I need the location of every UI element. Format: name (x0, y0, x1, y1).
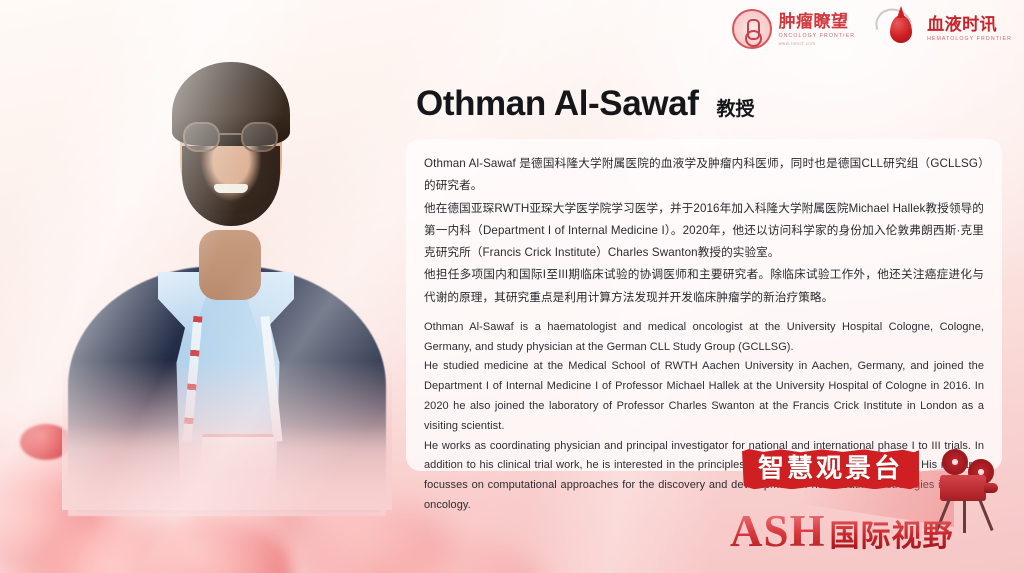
bio-cn-paragraph-3: 他担任多项国内和国际I至III期临床试验的协调医师和主要研究者。除临床试验工作外… (424, 264, 984, 309)
oncology-frontier-logo[interactable]: 肿瘤瞭望 ONCOLOGY FRONTIER www.iomcf.com (731, 8, 856, 50)
ash-label: ASH (730, 505, 826, 557)
bio-cn-paragraph-2: 他在德国亚琛RWTH亚琛大学医学院学习医学，并于2016年加入科隆大学附属医院M… (424, 198, 984, 265)
speaker-name: Othman Al-Sawaf (416, 84, 698, 124)
hematology-frontier-en-label: HEMATOLOGY FRONTIER (927, 36, 1012, 42)
broadcast-slide: 肿瘤瞭望 ONCOLOGY FRONTIER www.iomcf.com 血液时… (0, 0, 1024, 573)
oncology-frontier-cn-label: 肿瘤瞭望 (779, 13, 856, 30)
bio-cn-paragraph-1: Othman Al-Sawaf 是德国科隆大学附属医院的血液学及肿瘤内科医师，同… (424, 153, 984, 198)
program-branding: 智慧观景台 ASH 国际视野 (724, 447, 1014, 567)
speaker-title-cn: 教授 (716, 94, 754, 121)
ash-title-row: ASH 国际视野 (730, 505, 954, 557)
header-logo-group: 肿瘤瞭望 ONCOLOGY FRONTIER www.iomcf.com 血液时… (731, 8, 1012, 50)
oncology-frontier-url: www.iomcf.com (779, 41, 856, 46)
bio-cn-block: Othman Al-Sawaf 是德国科隆大学附属医院的血液学及肿瘤内科医师，同… (424, 153, 984, 309)
hematology-frontier-logo[interactable]: 血液时讯 HEMATOLOGY FRONTIER (877, 8, 1012, 50)
ash-cn-label: 国际视野 (830, 511, 954, 555)
hematology-frontier-cn-label: 血液时讯 (927, 16, 1012, 33)
oncology-frontier-en-label: ONCOLOGY FRONTIER (779, 33, 856, 39)
program-stamp-label: 智慧观景台 (742, 449, 919, 489)
blood-drop-icon (877, 8, 921, 50)
bio-en-paragraph-2: He studied medicine at the Medical Schoo… (424, 357, 984, 436)
speaker-name-row: Othman Al-Sawaf 教授 (416, 84, 754, 124)
speaker-bio-panel: Othman Al-Sawaf 是德国科隆大学附属医院的血液学及肿瘤内科医师，同… (406, 139, 1002, 471)
crab-ring-icon (731, 8, 773, 50)
bio-en-paragraph-1: Othman Al-Sawaf is a haematologist and m… (424, 318, 984, 358)
